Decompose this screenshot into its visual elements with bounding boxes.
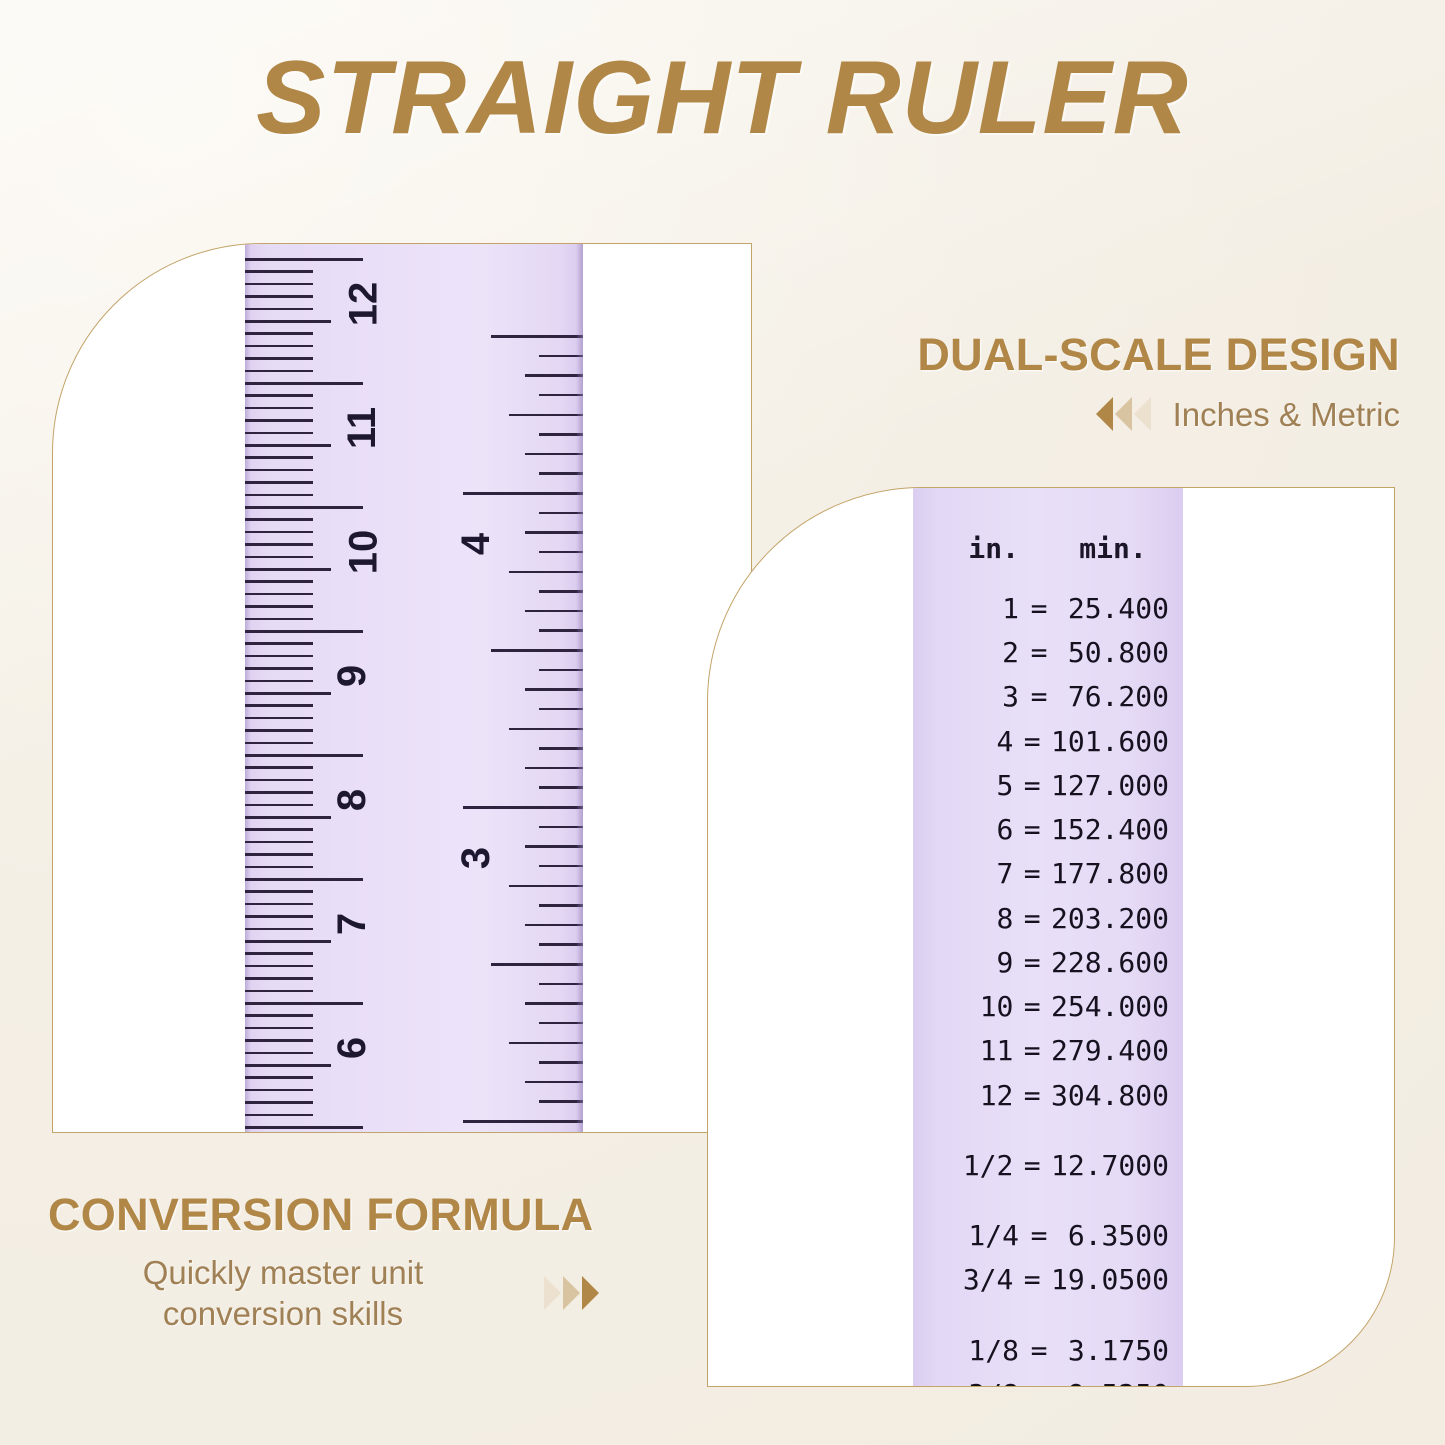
conversion-inches-value: 3/4 xyxy=(927,1258,1013,1302)
ruler-tick xyxy=(539,865,583,868)
ruler-tick xyxy=(245,593,313,596)
ruler-tick xyxy=(245,320,331,323)
ruler-tick xyxy=(491,649,583,652)
ruler-tick xyxy=(245,407,313,410)
ruler-tick xyxy=(245,890,313,893)
ruler-tick xyxy=(245,1101,313,1104)
ruler-tick xyxy=(245,283,313,286)
ruler-tick xyxy=(463,806,583,809)
ruler-tick xyxy=(245,1039,313,1042)
ruler-tick xyxy=(245,952,313,955)
ruler-tick xyxy=(245,828,313,831)
ruler-tick xyxy=(245,1052,313,1055)
ruler-tick xyxy=(245,1014,313,1017)
ruler-metric-label: 9 xyxy=(332,665,372,687)
conversion-inches-value: 7 xyxy=(927,852,1013,896)
ruler-inch-label: 3 xyxy=(456,847,496,869)
conversion-rows-quarters: 1/4=6.35003/4=19.0500 xyxy=(913,1214,1183,1302)
ruler-tick xyxy=(509,414,583,417)
equals-sign: = xyxy=(1013,985,1051,1029)
equals-sign: = xyxy=(1019,1373,1059,1387)
equals-sign: = xyxy=(1013,720,1051,764)
page-title: STRAIGHT RULER xyxy=(0,46,1445,150)
ruler-tick xyxy=(539,590,583,593)
ruler-tick xyxy=(245,1027,313,1030)
ruler-tick xyxy=(245,580,313,583)
ruler-tick xyxy=(245,804,313,807)
chevron-left-icon xyxy=(1115,397,1132,431)
ruler-tick xyxy=(539,1100,583,1103)
ruler-tick xyxy=(525,531,583,534)
ruler-tick xyxy=(245,717,313,720)
conversion-millimeters-value: 127.000 xyxy=(1051,764,1173,808)
ruler-tick xyxy=(245,1002,363,1005)
conversion-millimeters-value: 203.200 xyxy=(1051,897,1173,941)
conversion-millimeters-value: 279.400 xyxy=(1051,1029,1173,1073)
ruler-tick xyxy=(245,568,331,571)
ruler-tick xyxy=(539,943,583,946)
ruler-tick xyxy=(539,512,583,515)
conversion-inches-value: 1 xyxy=(927,587,1019,631)
header-millimeters: min. xyxy=(1059,532,1173,565)
conversion-rows-halves: 1/2=12.7000 xyxy=(913,1144,1183,1188)
ruler-tick xyxy=(245,692,331,695)
conversion-inches-value: 6 xyxy=(927,808,1013,852)
feature-conversion-subtitle: Quickly master unit conversion skills xyxy=(48,1252,518,1335)
ruler-tick xyxy=(245,878,363,881)
equals-sign: = xyxy=(1013,1258,1051,1302)
ruler-tick xyxy=(245,853,313,856)
conversion-row: 6=152.400 xyxy=(913,808,1183,852)
ruler-tick xyxy=(245,655,313,658)
equals-sign: = xyxy=(1013,1144,1051,1188)
ruler-tick xyxy=(525,453,583,456)
ruler-tick xyxy=(245,543,313,546)
equals-sign: = xyxy=(1019,675,1059,719)
conversion-table-card: in. min. 1=25.4002=50.8003=76.2004=101.6… xyxy=(707,487,1395,1387)
ruler-tick xyxy=(245,270,313,273)
metric-tick-scale xyxy=(245,244,405,1132)
ruler-tick xyxy=(463,492,583,495)
header-inches: in. xyxy=(927,532,1019,565)
conversion-millimeters-value: 25.400 xyxy=(1059,587,1173,631)
ruler-graphic: 12111098765 432 xyxy=(245,244,583,1132)
ruler-tick xyxy=(539,355,583,358)
ruler-tick xyxy=(245,506,363,509)
ruler-tick xyxy=(509,571,583,574)
feature-conversion-title: CONVERSION FORMULA xyxy=(48,1190,708,1240)
conversion-inches-value: 3/8 xyxy=(927,1373,1019,1387)
ruler-tick xyxy=(539,629,583,632)
conversion-millimeters-value: 304.800 xyxy=(1051,1074,1173,1118)
conversion-row: 1/8=3.1750 xyxy=(913,1329,1183,1373)
conversion-millimeters-value: 9.5250 xyxy=(1059,1373,1173,1387)
equals-sign: = xyxy=(1013,1074,1051,1118)
ruler-tick xyxy=(245,394,313,397)
ruler-metric-label: 12 xyxy=(343,282,383,327)
ruler-tick xyxy=(539,669,583,672)
ruler-tick xyxy=(539,472,583,475)
equals-sign: = xyxy=(1013,808,1051,852)
ruler-tick xyxy=(539,747,583,750)
conversion-rows-eighths: 1/8=3.17503/8=9.52505/8=15.87507/8=22.22… xyxy=(913,1329,1183,1387)
conversion-row: 1/2=12.7000 xyxy=(913,1144,1183,1188)
ruler-tick xyxy=(525,1081,583,1084)
chevron-left-icon xyxy=(1134,397,1151,431)
ruler-tick xyxy=(491,335,583,338)
conversion-inches-value: 12 xyxy=(927,1074,1013,1118)
conversion-millimeters-value: 101.600 xyxy=(1051,720,1173,764)
ruler-tick xyxy=(245,1064,331,1067)
equals-sign: = xyxy=(1019,587,1059,631)
feature-conversion-formula: CONVERSION FORMULA Quickly master unit c… xyxy=(48,1190,708,1334)
conversion-millimeters-value: 12.7000 xyxy=(1051,1144,1173,1188)
ruler-tick xyxy=(525,374,583,377)
ruler-tick xyxy=(463,1120,583,1123)
feature-conversion-subtitle-line2: conversion skills xyxy=(48,1293,518,1334)
conversion-inches-value: 9 xyxy=(927,941,1013,985)
conversion-row: 3/4=19.0500 xyxy=(913,1258,1183,1302)
equals-sign: = xyxy=(1019,631,1059,675)
conversion-row: 12=304.800 xyxy=(913,1074,1183,1118)
ruler-tick xyxy=(245,667,313,670)
conversion-inches-value: 10 xyxy=(927,985,1013,1029)
ruler-tick xyxy=(245,965,313,968)
ruler-tick xyxy=(539,904,583,907)
conversion-inches-value: 1/2 xyxy=(927,1144,1013,1188)
conversion-inches-value: 11 xyxy=(927,1029,1013,1073)
ruler-tick xyxy=(245,754,363,757)
ruler-tick xyxy=(245,915,313,918)
ruler-tick xyxy=(245,444,331,447)
ruler-tick xyxy=(245,419,313,422)
conversion-rows-whole: 1=25.4002=50.8003=76.2004=101.6005=127.0… xyxy=(913,587,1183,1118)
ruler-tick xyxy=(539,708,583,711)
conversion-table-header: in. min. xyxy=(913,532,1183,565)
equals-sign: = xyxy=(1013,1029,1051,1073)
ruler-tick xyxy=(245,816,331,819)
inch-tick-scale xyxy=(423,244,583,1132)
conversion-row: 7=177.800 xyxy=(913,852,1183,896)
ruler-tick xyxy=(245,742,313,745)
conversion-inches-value: 3 xyxy=(927,675,1019,719)
conversion-millimeters-value: 3.1750 xyxy=(1059,1329,1173,1373)
equals-sign: = xyxy=(1013,897,1051,941)
ruler-tick xyxy=(245,357,313,360)
ruler-tick xyxy=(245,928,313,931)
ruler-tick xyxy=(525,845,583,848)
ruler-tick xyxy=(491,963,583,966)
ruler-tick xyxy=(245,729,313,732)
ruler-metric-label: 11 xyxy=(342,407,382,449)
conversion-millimeters-value: 50.800 xyxy=(1059,631,1173,675)
conversion-inches-value: 8 xyxy=(927,897,1013,941)
conversion-row: 1/4=6.3500 xyxy=(913,1214,1183,1258)
ruler-tick xyxy=(245,556,313,559)
ruler-tick xyxy=(509,885,583,888)
ruler-tick xyxy=(539,1061,583,1064)
feature-dual-scale-subtitle: Inches & Metric xyxy=(1173,394,1400,435)
conversion-row: 1=25.400 xyxy=(913,587,1183,631)
ruler-tick xyxy=(245,791,313,794)
chevron-right-icon xyxy=(544,1276,561,1310)
conversion-millimeters-value: 228.600 xyxy=(1051,941,1173,985)
ruler-tick xyxy=(245,605,313,608)
conversion-row: 2=50.800 xyxy=(913,631,1183,675)
conversion-row: 11=279.400 xyxy=(913,1029,1183,1073)
ruler-tick xyxy=(539,433,583,436)
conversion-inches-value: 4 xyxy=(927,720,1013,764)
conversion-millimeters-value: 152.400 xyxy=(1051,808,1173,852)
ruler-tick xyxy=(525,610,583,613)
ruler-tick xyxy=(245,456,313,459)
feature-conversion-subtitle-line1: Quickly master unit xyxy=(48,1252,518,1293)
equals-sign: = xyxy=(1013,852,1051,896)
conversion-table-strip: in. min. 1=25.4002=50.8003=76.2004=101.6… xyxy=(913,488,1183,1386)
ruler-tick xyxy=(245,469,313,472)
ruler-tick xyxy=(245,1126,363,1129)
ruler-tick xyxy=(539,983,583,986)
equals-sign: = xyxy=(1019,1329,1059,1373)
ruler-tick xyxy=(509,728,583,731)
ruler-tick xyxy=(245,518,313,521)
conversion-row: 8=203.200 xyxy=(913,897,1183,941)
ruler-tick xyxy=(525,924,583,927)
ruler-tick xyxy=(245,841,313,844)
ruler-tick xyxy=(245,779,313,782)
ruler-tick xyxy=(245,370,313,373)
conversion-millimeters-value: 76.200 xyxy=(1059,675,1173,719)
ruler-tick xyxy=(245,990,313,993)
conversion-inches-value: 2 xyxy=(927,631,1019,675)
ruler-metric-label: 6 xyxy=(332,1037,372,1059)
chevron-group-left xyxy=(1096,397,1151,431)
ruler-tick xyxy=(245,295,313,298)
ruler-tick xyxy=(245,432,313,435)
equals-sign: = xyxy=(1013,764,1051,808)
ruler-tick xyxy=(525,1002,583,1005)
conversion-inches-value: 1/8 xyxy=(927,1329,1019,1373)
ruler-tick xyxy=(245,308,313,311)
ruler-tick xyxy=(245,977,313,980)
conversion-millimeters-value: 6.3500 xyxy=(1059,1214,1173,1258)
chevron-group-right xyxy=(544,1276,599,1310)
ruler-tick xyxy=(509,1042,583,1045)
ruler-tick xyxy=(245,866,313,869)
ruler-tick xyxy=(245,766,313,769)
ruler-tick xyxy=(245,332,313,335)
conversion-row: 3/8=9.5250 xyxy=(913,1373,1183,1387)
chevron-right-icon xyxy=(563,1276,580,1310)
ruler-tick xyxy=(245,680,313,683)
ruler-metric-label: 8 xyxy=(332,789,372,811)
feature-dual-scale-title: DUAL-SCALE DESIGN xyxy=(800,330,1400,380)
ruler-tick xyxy=(539,1022,583,1025)
chevron-left-icon xyxy=(1096,397,1113,431)
conversion-millimeters-value: 177.800 xyxy=(1051,852,1173,896)
ruler-tick xyxy=(245,1076,313,1079)
conversion-row: 3=76.200 xyxy=(913,675,1183,719)
ruler-tick xyxy=(245,903,313,906)
ruler-tick xyxy=(245,345,313,348)
feature-dual-scale: DUAL-SCALE DESIGN Inches & Metric xyxy=(800,330,1400,435)
ruler-tick xyxy=(245,1089,313,1092)
ruler-tick xyxy=(245,494,313,497)
ruler-metric-label: 10 xyxy=(343,530,383,575)
ruler-tick xyxy=(245,1114,313,1117)
ruler-tick xyxy=(245,258,363,261)
equals-sign: = xyxy=(1013,941,1051,985)
conversion-millimeters-value: 19.0500 xyxy=(1051,1258,1173,1302)
ruler-tick xyxy=(245,618,313,621)
conversion-inches-value: 1/4 xyxy=(927,1214,1019,1258)
ruler-tick xyxy=(245,531,313,534)
ruler-tick xyxy=(245,382,363,385)
ruler-tick xyxy=(245,704,313,707)
ruler-tick xyxy=(245,630,363,633)
ruler-tick xyxy=(539,394,583,397)
ruler-tick xyxy=(245,642,313,645)
ruler-inch-label: 4 xyxy=(456,533,496,555)
conversion-row: 4=101.600 xyxy=(913,720,1183,764)
ruler-tick xyxy=(525,767,583,770)
equals-sign: = xyxy=(1019,1214,1059,1258)
conversion-row: 9=228.600 xyxy=(913,941,1183,985)
conversion-inches-value: 5 xyxy=(927,764,1013,808)
ruler-photo-card: 12111098765 432 xyxy=(52,243,752,1133)
ruler-tick xyxy=(539,826,583,829)
header-spacer xyxy=(1019,532,1059,565)
conversion-row: 5=127.000 xyxy=(913,764,1183,808)
ruler-metric-label: 7 xyxy=(332,913,372,935)
ruler-tick xyxy=(525,688,583,691)
ruler-tick xyxy=(245,940,331,943)
ruler-tick xyxy=(539,786,583,789)
ruler-tick xyxy=(539,551,583,554)
chevron-right-icon xyxy=(582,1276,599,1310)
conversion-millimeters-value: 254.000 xyxy=(1051,985,1173,1029)
conversion-row: 10=254.000 xyxy=(913,985,1183,1029)
ruler-tick xyxy=(245,481,313,484)
